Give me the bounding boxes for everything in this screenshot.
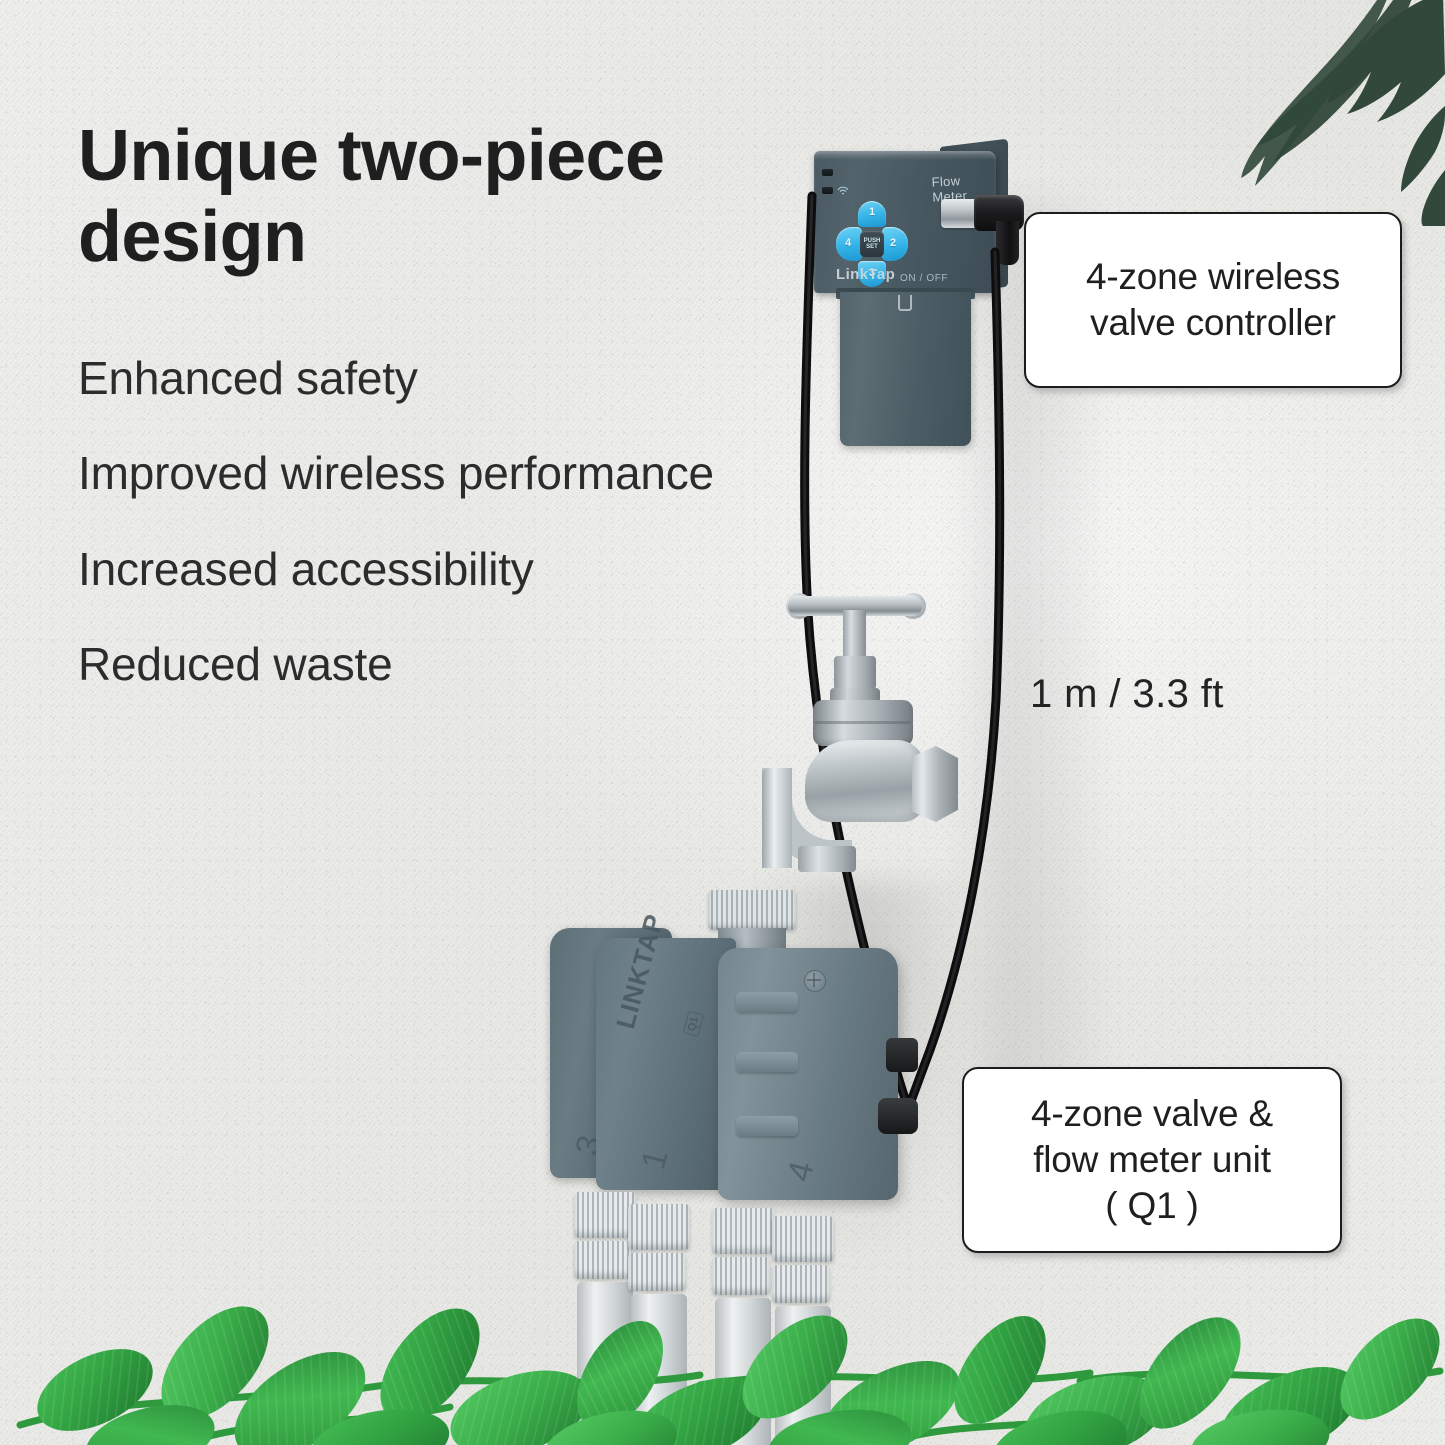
valve-grip-ridge <box>736 1052 798 1072</box>
callout-controller-line1: 4-zone wireless <box>1086 254 1340 300</box>
valve-grip-ridge <box>736 1116 798 1136</box>
tap-collar-upper <box>834 656 876 690</box>
hose-connector-ring <box>574 1192 636 1238</box>
valve-flow-meter-unit-device: 3 LINKTAP Q1 1 4 <box>548 890 948 1220</box>
controller-battery-barrel <box>840 292 971 446</box>
green-leaf-decoration <box>0 1245 1445 1445</box>
controller-onoff-label: ON / OFF <box>900 273 948 284</box>
wifi-icon <box>836 185 850 195</box>
flow-meter-elbow-down <box>996 221 1019 265</box>
valve-port-label-4: 4 <box>780 1158 822 1186</box>
valve-cable-connector-upper <box>886 1038 918 1072</box>
controller-body: PUSH SET 1 2 3 4 LinkTap ON / OFF Flow M… <box>814 151 996 293</box>
led-indicator-icon <box>822 187 833 194</box>
pad-center-button[interactable]: PUSH SET <box>860 231 884 257</box>
valve-model-badge: Q1 <box>683 1011 704 1037</box>
feature-list: Enhanced safety Improved wireless perfor… <box>78 352 778 691</box>
valve-inlet-nut <box>708 890 796 930</box>
feature-item-safety: Enhanced safety <box>78 352 778 405</box>
product-marketing-image: Unique two-piece design Enhanced safety … <box>0 0 1445 1445</box>
led-indicator-icon <box>822 169 833 176</box>
zone-number-4: 4 <box>845 237 851 249</box>
screw-icon <box>804 970 826 992</box>
wireless-valve-controller-device: PUSH SET 1 2 3 4 LinkTap ON / OFF Flow M… <box>790 145 1022 460</box>
callout-controller: 4-zone wireless valve controller <box>1024 212 1402 388</box>
page-title: Unique two-piece design <box>78 116 738 277</box>
tap-hex-nut <box>912 746 958 822</box>
hose-connector-ring <box>628 1204 690 1250</box>
tap-bonnet-seam <box>815 721 911 724</box>
callout-valve-unit: 4-zone valve & flow meter unit ( Q1 ) <box>962 1067 1342 1253</box>
controller-top-highlight <box>814 151 996 160</box>
feature-item-wireless: Improved wireless performance <box>78 447 778 500</box>
valve-module-front-left: LINKTAP Q1 1 <box>596 938 736 1190</box>
callout-controller-line2: valve controller <box>1086 300 1340 346</box>
valve-grip-ridge <box>736 992 798 1012</box>
monstera-leaf-decoration <box>1235 0 1445 226</box>
callout-valve-line2: flow meter unit <box>1031 1137 1273 1183</box>
valve-cable-connector-lower <box>878 1098 918 1134</box>
feature-item-accessibility: Increased accessibility <box>78 543 778 596</box>
valve-module-front-right: 4 <box>718 948 898 1200</box>
feature-item-waste: Reduced waste <box>78 638 778 691</box>
tap-stem <box>843 610 866 662</box>
garden-tap-icon <box>760 588 1010 888</box>
pad-center-line2: SET <box>866 244 878 250</box>
controller-brand-logo: LinkTap <box>836 266 895 283</box>
controller-latch-icon <box>898 295 912 311</box>
callout-valve-line1: 4-zone valve & <box>1031 1091 1273 1137</box>
zone-number-1: 1 <box>869 206 875 218</box>
zone-number-2: 2 <box>890 237 896 249</box>
tap-outlet <box>798 846 856 872</box>
callout-valve-line3: ( Q1 ) <box>1031 1183 1273 1229</box>
valve-port-label-1: 1 <box>634 1146 676 1174</box>
cable-length-label: 1 m / 3.3 ft <box>1030 672 1224 717</box>
